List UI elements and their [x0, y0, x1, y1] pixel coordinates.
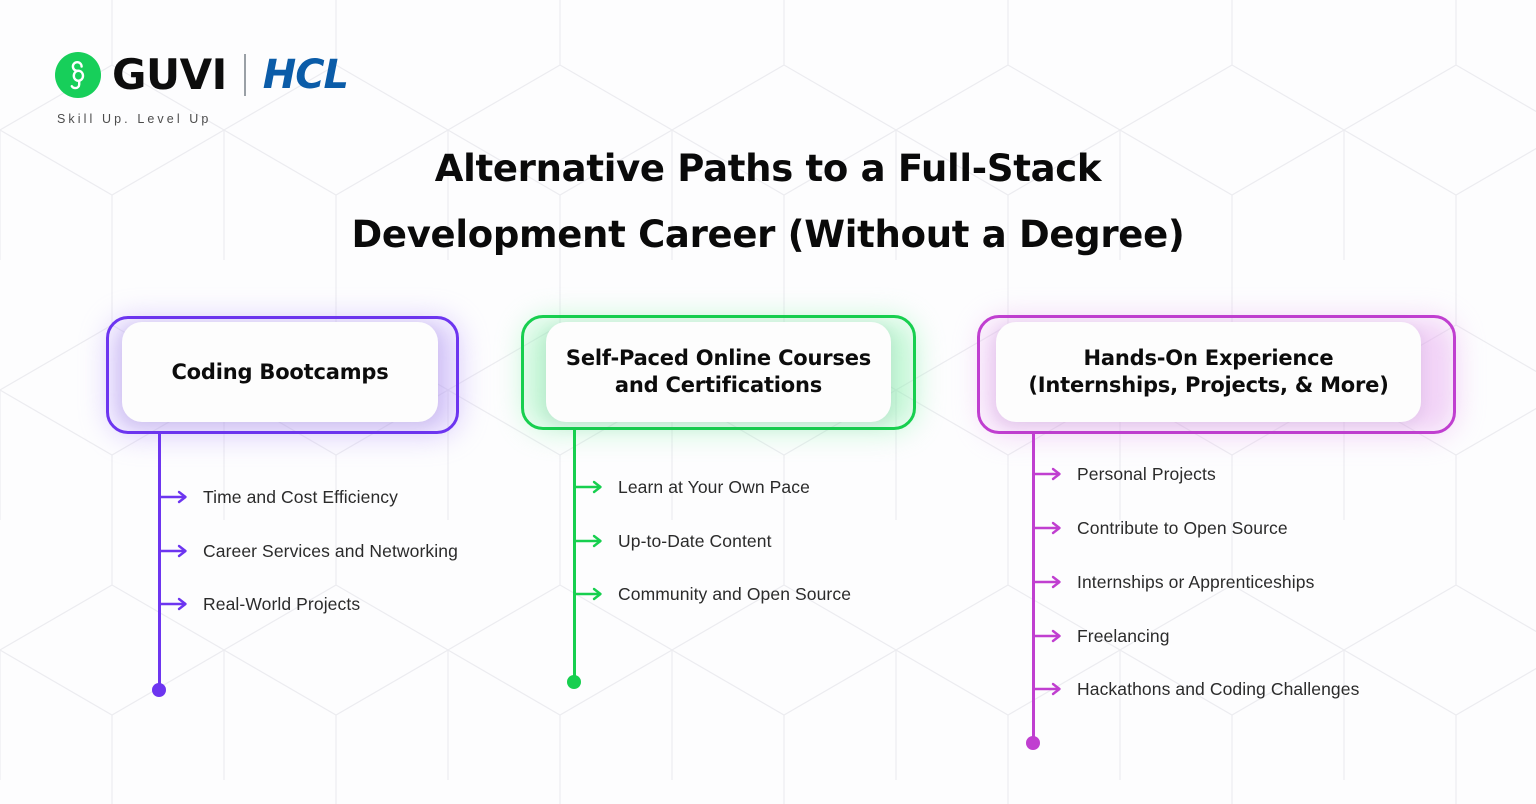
arrow-right-icon	[1034, 466, 1066, 482]
arrow-right-icon	[1034, 574, 1066, 590]
page-title-line-1: Alternative Paths to a Full-Stack	[0, 136, 1536, 202]
list-item[interactable]: Internships or Apprenticeships	[1034, 570, 1314, 594]
logo-row: GUVI HCL	[55, 50, 348, 100]
list-item-label: Personal Projects	[1077, 464, 1216, 485]
arrow-right-icon	[1034, 681, 1066, 697]
list-item-label: Internships or Apprenticeships	[1077, 572, 1314, 593]
arrow-right-icon	[1034, 520, 1066, 536]
logo-divider	[244, 54, 246, 96]
list-item-label: Freelancing	[1077, 626, 1170, 647]
hcl-wordmark: HCL	[263, 55, 348, 95]
list-item-label: Contribute to Open Source	[1077, 518, 1288, 539]
page-title: Alternative Paths to a Full-Stack Develo…	[0, 136, 1536, 268]
card-title: Hands-On Experience (Internships, Projec…	[1012, 345, 1404, 399]
list-item[interactable]: Freelancing	[1034, 624, 1170, 648]
guvi-g-monogram-icon	[55, 52, 101, 98]
list-item[interactable]: Contribute to Open Source	[1034, 516, 1288, 540]
list-item[interactable]: Hackathons and Coding Challenges	[1034, 677, 1359, 701]
brand-tagline: Skill Up. Level Up	[57, 112, 348, 126]
list-item-label: Hackathons and Coding Challenges	[1077, 679, 1359, 700]
card-title-line-1: Hands-On Experience	[1084, 346, 1334, 370]
dot-terminator-icon	[1026, 736, 1040, 750]
guvi-wordmark: GUVI	[112, 54, 227, 96]
arrow-right-icon	[1034, 628, 1066, 644]
page-title-line-2: Development Career (Without a Degree)	[0, 202, 1536, 268]
card-title-line-2: (Internships, Projects, & More)	[1028, 373, 1388, 397]
list-item[interactable]: Personal Projects	[1034, 462, 1216, 486]
card-hands-on-experience[interactable]: Hands-On Experience (Internships, Projec…	[996, 322, 1421, 422]
brand-logo-block: GUVI HCL Skill Up. Level Up	[55, 50, 348, 126]
